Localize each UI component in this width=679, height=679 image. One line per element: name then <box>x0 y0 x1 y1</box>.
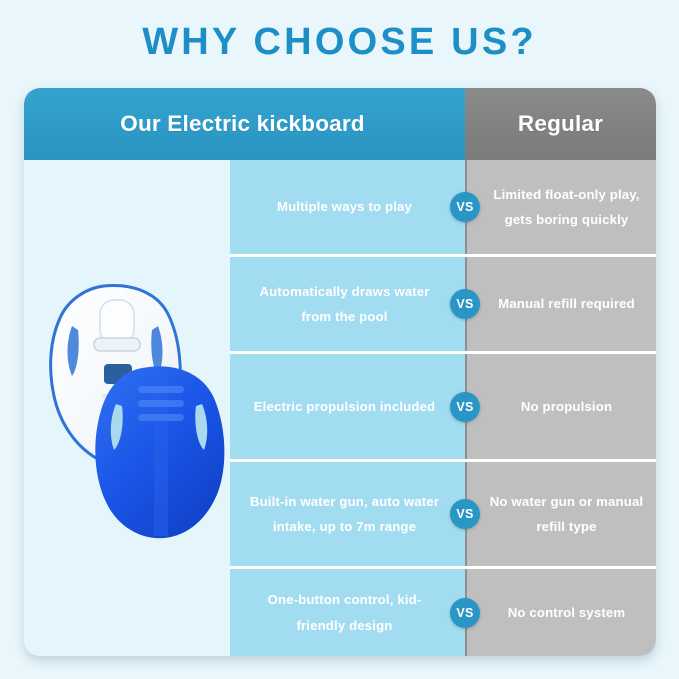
header-cell-ours: Our Electric kickboard <box>24 88 465 160</box>
vs-badge: VS <box>450 392 480 422</box>
table-row: One-button control, kid-friendly design … <box>230 569 656 656</box>
comparison-card: Our Electric kickboard Regular <box>24 88 656 656</box>
row-ours-text: One-button control, kid-friendly design <box>244 587 445 638</box>
vs-badge: VS <box>450 598 480 628</box>
infographic-canvas: WHY CHOOSE US? Our Electric kickboard Re… <box>0 0 679 679</box>
table-row: Built-in water gun, auto water intake, u… <box>230 462 656 569</box>
row-ours-text: Built-in water gun, auto water intake, u… <box>244 489 445 540</box>
product-image-pane <box>24 160 230 656</box>
row-regular-cell: Limited float-only play, gets boring qui… <box>465 160 656 254</box>
row-ours-cell: One-button control, kid-friendly design <box>230 569 465 656</box>
comparison-rows: Multiple ways to play Limited float-only… <box>230 160 656 656</box>
header-cell-regular: Regular <box>465 88 656 160</box>
comparison-header: Our Electric kickboard Regular <box>24 88 656 160</box>
row-ours-text: Automatically draws water from the pool <box>244 279 445 330</box>
vs-badge: VS <box>450 289 480 319</box>
header-ours-label: Our Electric kickboard <box>120 111 365 137</box>
table-row: Automatically draws water from the pool … <box>230 257 656 354</box>
row-regular-text: No control system <box>508 600 626 625</box>
blue-kickboard <box>95 366 224 538</box>
row-regular-cell: No water gun or manual refill type <box>465 462 656 566</box>
comparison-body: Multiple ways to play Limited float-only… <box>24 160 656 656</box>
row-regular-cell: No control system <box>465 569 656 656</box>
row-regular-cell: No propulsion <box>465 354 656 459</box>
kickboard-product-image <box>34 268 230 548</box>
page-title: WHY CHOOSE US? <box>0 22 679 64</box>
row-ours-cell: Automatically draws water from the pool <box>230 257 465 351</box>
row-ours-text: Electric propulsion included <box>254 394 436 419</box>
vs-badge: VS <box>450 192 480 222</box>
row-regular-text: Limited float-only play, gets boring qui… <box>489 182 644 233</box>
row-regular-text: No propulsion <box>521 394 612 419</box>
table-row: Multiple ways to play Limited float-only… <box>230 160 656 257</box>
row-ours-cell: Built-in water gun, auto water intake, u… <box>230 462 465 566</box>
row-regular-cell: Manual refill required <box>465 257 656 351</box>
header-regular-label: Regular <box>518 111 603 137</box>
row-ours-text: Multiple ways to play <box>277 194 412 219</box>
row-ours-cell: Electric propulsion included <box>230 354 465 459</box>
vs-badge: VS <box>450 499 480 529</box>
row-regular-text: No water gun or manual refill type <box>489 489 644 540</box>
row-ours-cell: Multiple ways to play <box>230 160 465 254</box>
table-row: Electric propulsion included No propulsi… <box>230 354 656 462</box>
row-regular-text: Manual refill required <box>498 291 635 316</box>
